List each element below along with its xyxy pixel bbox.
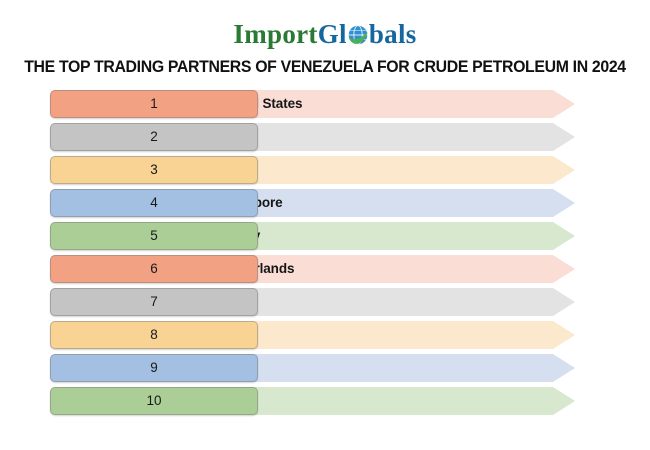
list-item[interactable]: •Cuba7 bbox=[50, 288, 590, 316]
list-item[interactable]: •Brazil8 bbox=[50, 321, 590, 349]
page-title: THE TOP TRADING PARTNERS OF VENEZUELA FO… bbox=[13, 58, 637, 77]
rank-number: 5 bbox=[50, 222, 258, 250]
logo-text-gl: Gl bbox=[318, 19, 347, 49]
list-item[interactable]: •Turkey5 bbox=[50, 222, 590, 250]
rank-number: 10 bbox=[50, 387, 258, 415]
rank-number: 1 bbox=[50, 90, 258, 118]
logo-text-bals: bals bbox=[369, 19, 417, 49]
list-item[interactable]: •China2 bbox=[50, 123, 590, 151]
rank-number: 4 bbox=[50, 189, 258, 217]
rank-number: 9 bbox=[50, 354, 258, 382]
list-item[interactable]: •Japan10 bbox=[50, 387, 590, 415]
brand-logo: ImportGl bals bbox=[0, 18, 650, 50]
list-item[interactable]: •Netherlands6 bbox=[50, 255, 590, 283]
list-item[interactable]: •United States1 bbox=[50, 90, 590, 118]
rank-number: 7 bbox=[50, 288, 258, 316]
list-item[interactable]: •Singapore4 bbox=[50, 189, 590, 217]
rank-number: 3 bbox=[50, 156, 258, 184]
globe-icon bbox=[347, 24, 369, 46]
ranking-list: •United States1•China2•India3•Singapore4… bbox=[50, 90, 590, 420]
list-item[interactable]: •India3 bbox=[50, 156, 590, 184]
infographic-canvas: ImportGl bals THE TOP TRADING PARTNERS O… bbox=[0, 0, 650, 450]
rank-number: 8 bbox=[50, 321, 258, 349]
logo-text-import: Import bbox=[233, 19, 317, 49]
rank-number: 6 bbox=[50, 255, 258, 283]
rank-number: 2 bbox=[50, 123, 258, 151]
list-item[interactable]: •Chile9 bbox=[50, 354, 590, 382]
